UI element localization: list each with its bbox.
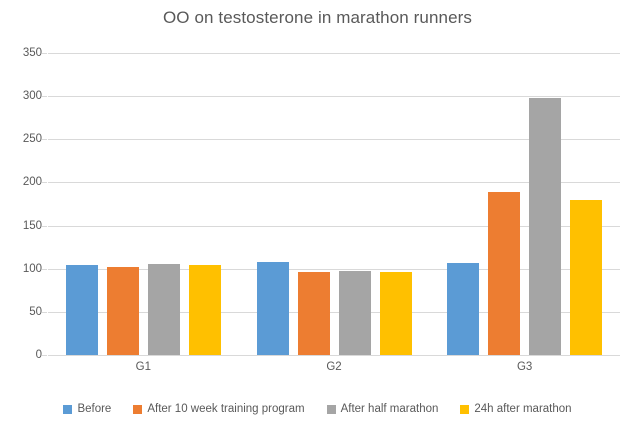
y-tick-label: 250 — [0, 133, 42, 145]
y-tick-label: 100 — [0, 263, 42, 275]
y-tick-mark — [42, 269, 47, 270]
y-axis: 050100150200250300350 — [0, 53, 42, 355]
y-tick-label: 350 — [0, 47, 42, 59]
bar — [447, 263, 479, 355]
bars-layer — [48, 53, 620, 355]
bar — [148, 264, 180, 355]
y-tick-mark — [42, 96, 47, 97]
x-tick-label: G2 — [239, 361, 430, 373]
chart-legend: BeforeAfter 10 week training programAfte… — [0, 399, 635, 419]
y-tick-label: 300 — [0, 90, 42, 102]
legend-item[interactable]: Before — [63, 403, 111, 415]
bar — [107, 267, 139, 355]
bar — [189, 265, 221, 355]
legend-label: 24h after marathon — [474, 403, 571, 415]
bar — [529, 98, 561, 355]
y-tick-mark — [42, 139, 47, 140]
legend-label: After 10 week training program — [147, 403, 304, 415]
y-tick-label: 50 — [0, 306, 42, 318]
bar — [66, 265, 98, 355]
x-tick-label: G3 — [429, 361, 620, 373]
legend-label: After half marathon — [341, 403, 439, 415]
y-tick-mark — [42, 182, 47, 183]
bar — [298, 272, 330, 355]
legend-item[interactable]: 24h after marathon — [460, 403, 571, 415]
y-tick-label: 0 — [0, 349, 42, 361]
bar — [380, 272, 412, 355]
legend-item[interactable]: After 10 week training program — [133, 403, 304, 415]
x-tick-label: G1 — [48, 361, 239, 373]
y-tick-mark — [42, 226, 47, 227]
legend-swatch-icon — [460, 405, 469, 414]
bar — [488, 192, 520, 355]
bar — [339, 271, 371, 355]
bar-chart: OO on testosterone in marathon runners 0… — [0, 0, 635, 423]
y-tick-label: 200 — [0, 176, 42, 188]
chart-title: OO on testosterone in marathon runners — [0, 8, 635, 28]
y-tick-mark — [42, 312, 47, 313]
legend-label: Before — [77, 403, 111, 415]
legend-item[interactable]: After half marathon — [327, 403, 439, 415]
legend-swatch-icon — [133, 405, 142, 414]
legend-swatch-icon — [63, 405, 72, 414]
bar — [570, 200, 602, 355]
y-tick-label: 150 — [0, 220, 42, 232]
bar — [257, 262, 289, 355]
y-tick-mark — [42, 53, 47, 54]
y-tick-mark — [42, 355, 47, 356]
x-axis-line — [48, 355, 620, 356]
legend-swatch-icon — [327, 405, 336, 414]
x-axis: G1G2G3 — [48, 358, 620, 380]
